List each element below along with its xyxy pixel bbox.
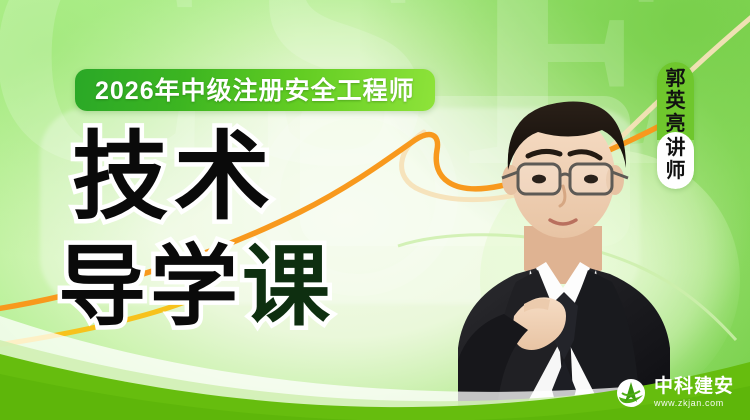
badge-label: 2026年中级注册安全工程师 — [95, 71, 415, 107]
brand-logo: 中科建安 www.zkjan.com — [616, 377, 734, 408]
course-banner: CSE — [0, 0, 750, 420]
brand-url: www.zkjan.com — [654, 399, 734, 408]
brand-text: 中科建安 www.zkjan.com — [654, 377, 734, 408]
mountain-peak-icon — [616, 378, 646, 408]
instructor-badge: 郭 英 亮 讲 师 — [657, 62, 694, 189]
course-category-badge: 2026年中级注册安全工程师 — [75, 69, 435, 111]
instructor-name-pill: 郭 英 亮 — [657, 62, 694, 140]
instructor-role-pill: 讲 师 — [657, 132, 694, 189]
brand-name: 中科建安 — [654, 377, 734, 396]
instructor-role-char-1: 讲 — [666, 137, 686, 159]
instructor-name-char-2: 英 — [666, 90, 686, 112]
instructor-role-char-2: 师 — [666, 160, 686, 182]
headline-primary: 技术 — [72, 130, 276, 226]
instructor-name-char-1: 郭 — [666, 68, 686, 90]
